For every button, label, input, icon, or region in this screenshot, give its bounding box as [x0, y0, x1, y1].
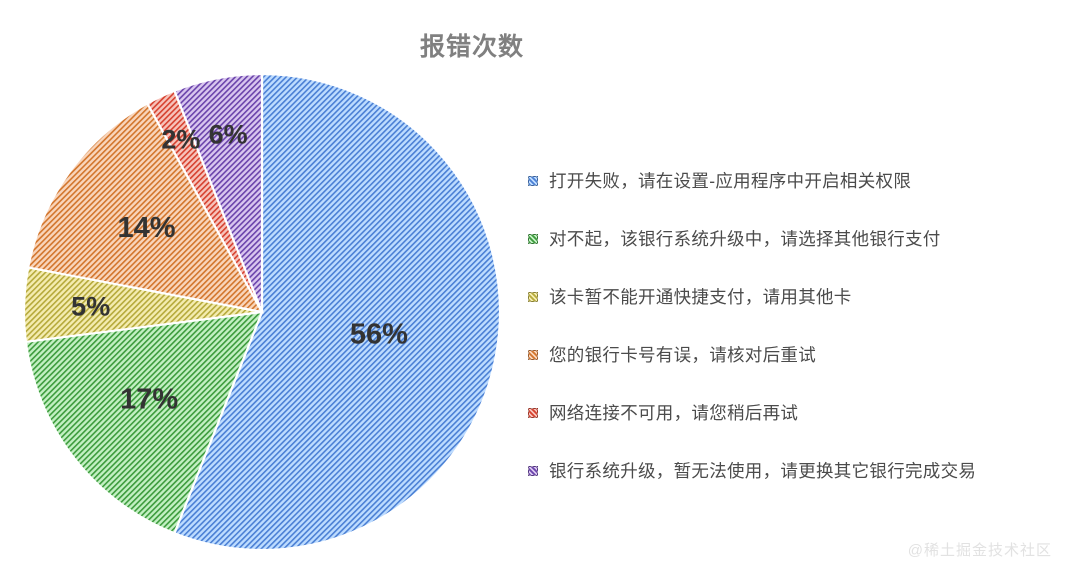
legend-item-label: 该卡暂不能开通快捷支付，请用其他卡	[549, 286, 852, 308]
pie-slice-label: 5%	[71, 292, 110, 322]
pie-slice-label: 56%	[350, 318, 408, 350]
legend-item[interactable]: 对不起，该银行系统升级中，请选择其他银行支付	[528, 210, 1048, 268]
legend-item-label: 对不起，该银行系统升级中，请选择其他银行支付	[549, 228, 941, 250]
legend-swatch-red-icon	[528, 408, 538, 418]
legend-item[interactable]: 该卡暂不能开通快捷支付，请用其他卡	[528, 268, 1048, 326]
pie-chart-figure: 报错次数	[0, 0, 1070, 572]
legend-item-label: 打开失败，请在设置-应用程序中开启相关权限	[549, 170, 911, 192]
pie-slice-label: 14%	[117, 212, 175, 244]
legend-item[interactable]: 打开失败，请在设置-应用程序中开启相关权限	[528, 152, 1048, 210]
legend-item-label: 您的银行卡号有误，请核对后重试	[549, 344, 816, 366]
legend-item[interactable]: 网络连接不可用，请您稍后再试	[528, 384, 1048, 442]
legend-item[interactable]: 银行系统升级，暂无法使用，请更换其它银行完成交易	[528, 442, 1048, 500]
legend-item[interactable]: 您的银行卡号有误，请核对后重试	[528, 326, 1048, 384]
legend-item-label: 银行系统升级，暂无法使用，请更换其它银行完成交易	[549, 460, 976, 482]
watermark: @稀土掘金技术社区	[908, 539, 1052, 560]
pie-slice-label: 17%	[120, 384, 178, 416]
legend-swatch-green-icon	[528, 234, 538, 244]
chart-legend: 打开失败，请在设置-应用程序中开启相关权限对不起，该银行系统升级中，请选择其他银…	[528, 152, 1048, 500]
legend-swatch-orange-icon	[528, 350, 538, 360]
legend-swatch-purple-icon	[528, 466, 538, 476]
legend-swatch-blue-icon	[528, 176, 538, 186]
pie-slice-label: 2%	[161, 125, 200, 155]
pie-slice-label: 6%	[209, 119, 248, 149]
legend-item-label: 网络连接不可用，请您稍后再试	[549, 402, 798, 424]
legend-swatch-yellow-icon	[528, 292, 538, 302]
